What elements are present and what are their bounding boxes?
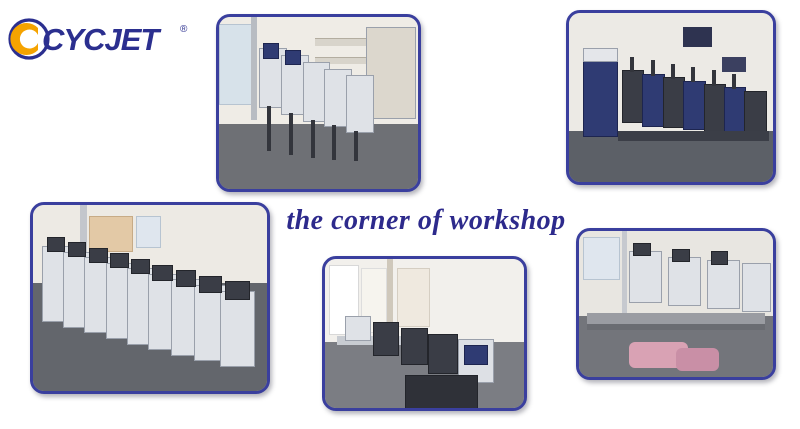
cycjet-logo: CYCJET ®	[8, 18, 198, 60]
workshop-photo-collage: CYCJET ® the corner of workshop	[0, 0, 800, 429]
photo-3	[30, 202, 270, 394]
photo-3-scene	[33, 205, 267, 391]
photo-1-scene	[219, 17, 418, 189]
logo-wordmark: CYCJET	[42, 22, 158, 58]
photo-4	[322, 256, 527, 411]
caption-text: the corner of workshop	[236, 205, 616, 237]
photo-4-scene	[325, 259, 524, 408]
photo-5-scene	[579, 231, 773, 377]
registered-trademark-mark: ®	[180, 24, 187, 35]
photo-1	[216, 14, 421, 192]
photo-5	[576, 228, 776, 380]
photo-2-scene	[569, 13, 773, 182]
photo-2	[566, 10, 776, 185]
